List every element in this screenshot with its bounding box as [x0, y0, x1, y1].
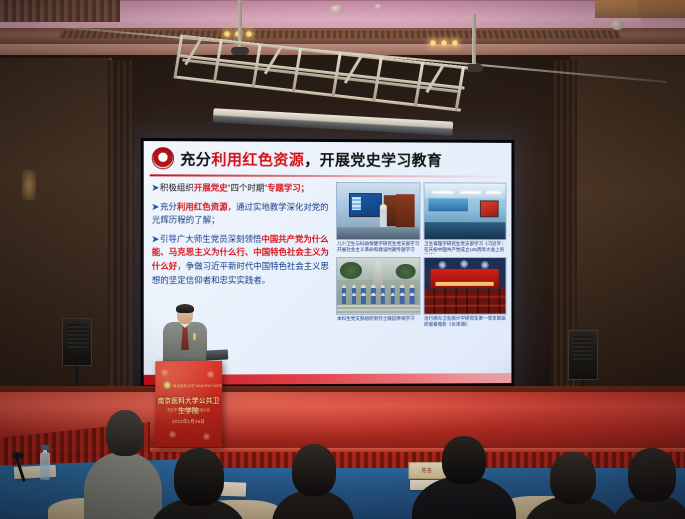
audience-member — [150, 448, 246, 519]
bullet-text-highlight: 利用红色资源 — [177, 201, 228, 211]
audience-head — [628, 448, 676, 502]
photo-cell: 本科生党支部组织到烈士陵园参观学习 — [336, 257, 420, 329]
ceiling-spotlights — [430, 40, 458, 46]
photo-meeting-room-study — [423, 182, 506, 240]
bullet-text: ，争做习近平新时代中国特色社会主义思想的坚定信仰者和忠实实践者。 — [152, 261, 329, 285]
audience-member — [412, 436, 516, 519]
audience-head — [106, 410, 144, 456]
bottle-cap — [41, 445, 49, 450]
bullet-text: 积极组织 — [160, 182, 194, 192]
audience-member — [524, 452, 620, 519]
bullet-arrow-icon: ➤ — [152, 201, 159, 211]
ceiling-speaker-icon — [611, 20, 624, 30]
photo-caption: 本科生党支部组织到烈士陵园参观学习 — [336, 315, 420, 329]
ceiling-corner-right — [595, 0, 685, 18]
photo-cell: 流行病与卫生统计学研究生第一党支部组织观看电影《长津湖》 — [423, 257, 506, 329]
lectern-laptop — [206, 349, 228, 360]
slide-photo-grid: 儿少卫生与妇幼保健学研究生党支部学习开展社会主义革命和建设时期专题学习 卫生毒理… — [336, 182, 507, 329]
photo-martyrs-cemetery-visit — [336, 257, 420, 315]
audience-member — [612, 448, 685, 519]
bullet-text: 引导广大师生党员深刻领悟 — [160, 234, 261, 244]
photo-caption: 卫生毒理学研究生党支部学习《习近平：在庆祝中国共产党成立100周年大会上的讲话》 — [423, 240, 506, 254]
bullet-arrow-icon: ➤ — [152, 182, 159, 192]
microphone-head-icon — [12, 452, 24, 459]
photo-classroom-study — [336, 182, 420, 240]
curtain-left — [108, 60, 134, 390]
pa-speaker-right — [568, 330, 598, 380]
audience-head — [550, 452, 596, 504]
title-prefix: 充分 — [180, 151, 211, 168]
presenter-hair — [176, 304, 194, 313]
audience-head — [174, 448, 224, 506]
ceiling-sensor-icon — [375, 4, 382, 10]
university-crest-icon — [163, 381, 171, 389]
university-crest-icon — [152, 147, 174, 169]
list-item: ➤充分利用红色资源，通过实地教学深化对党的光辉历程的了解； — [152, 200, 335, 228]
slide-header: 充分利用红色资源，开展党史学习教育 — [144, 141, 512, 177]
wall-panel-left — [0, 58, 112, 388]
ceiling-speaker-icon — [330, 5, 344, 14]
wall-sconce-glow — [22, 170, 36, 200]
podium-organization-mark: 南京医科大学 NANJING MEDICAL UNIVERSITY — [163, 381, 222, 389]
slide-bullet-list: ➤积极组织开展党史“四个时期”专题学习； ➤充分利用红色资源，通过实地教学深化对… — [152, 181, 335, 292]
bullet-text-highlight: 开展党史 — [194, 183, 228, 193]
truss-drop-rod — [472, 14, 476, 68]
bullet-text: 充分 — [160, 201, 177, 211]
photo-caption: 流行病与卫生统计学研究生第一党支部组织观看电影《长津湖》 — [423, 315, 506, 329]
photo-film-screening — [423, 257, 506, 315]
bullet-arrow-icon: ➤ — [152, 234, 159, 244]
presenter — [158, 305, 212, 367]
podium-organization-name: 南京医科大学公共卫生学院 — [155, 395, 222, 415]
audience-head — [442, 436, 486, 484]
audience-head — [292, 444, 336, 496]
slide-title: 充分利用红色资源，开展党史学习教育 — [180, 148, 442, 170]
conference-hall-photo: 充分利用红色资源，开展党史学习教育 ➤积极组织开展党史“四个时期”专题学习； ➤… — [0, 0, 685, 519]
list-item: ➤积极组织开展党史“四个时期”专题学习； — [152, 181, 335, 195]
pa-speaker-left — [62, 318, 92, 366]
podium: 南京医科大学 NANJING MEDICAL UNIVERSITY 南京医科大学… — [155, 361, 222, 448]
title-highlight: 利用红色资源 — [211, 151, 304, 168]
audience-member — [272, 444, 354, 519]
water-bottle — [40, 452, 50, 480]
ceiling-corner-left — [0, 0, 120, 22]
title-suffix: ，开展党史学习教育 — [304, 151, 442, 169]
podium-org-mark-text: 南京医科大学 NANJING MEDICAL UNIVERSITY — [173, 382, 222, 387]
presenter-badge-icon — [193, 333, 196, 340]
list-item: ➤引导广大师生党员深刻领悟中国共产党为什么能、马克思主义为什么行、中国特色社会主… — [152, 233, 335, 288]
photo-cell: 卫生毒理学研究生党支部学习《习近平：在庆祝中国共产党成立100周年大会上的讲话》 — [423, 182, 506, 254]
photo-caption: 儿少卫生与妇幼保健学研究生党支部学习开展社会主义革命和建设时期专题学习 — [336, 240, 420, 254]
bullet-text: “四个时期” — [228, 183, 267, 193]
title-divider — [150, 174, 512, 177]
podium-event-subtitle: 党史学习教育总结暨总结大会 — [155, 407, 222, 412]
podium-event-date: 2022年1月26日 — [155, 419, 222, 425]
photo-cell: 儿少卫生与妇幼保健学研究生党支部学习开展社会主义革命和建设时期专题学习 — [336, 182, 420, 254]
bullet-text-highlight: 专题学习； — [267, 183, 309, 193]
